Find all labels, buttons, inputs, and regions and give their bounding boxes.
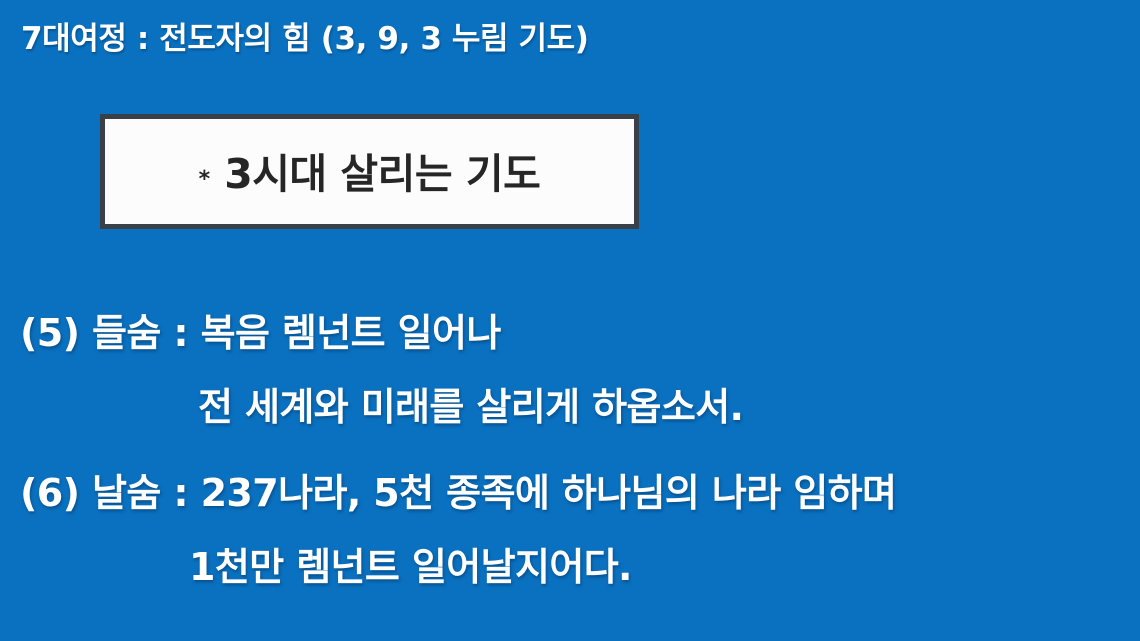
headline-box: * 3시대 살리는 기도 — [100, 114, 639, 229]
prayer-line-exhale-continued: 1천만 렘넌트 일어날지어다. — [189, 548, 632, 586]
headline-text: 3시대 살리는 기도 — [224, 152, 540, 197]
prayer-line-inhale-continued: 전 세계와 미래를 살리게 하옵소서. — [198, 388, 743, 426]
headline-content: * 3시대 살리는 기도 — [199, 152, 541, 197]
presentation-slide: 7대여정 : 전도자의 힘 (3, 9, 3 누림 기도) * 3시대 살리는 … — [0, 0, 1140, 641]
asterisk-bullet-icon: * — [199, 169, 211, 191]
prayer-line-inhale: (5) 들숨 : 복음 렘넌트 일어나 — [20, 314, 501, 352]
prayer-line-exhale: (6) 날숨 : 237나라, 5천 종족에 하나님의 나라 임하며 — [20, 474, 896, 512]
page-title: 7대여정 : 전도자의 힘 (3, 9, 3 누림 기도) — [21, 20, 1021, 59]
